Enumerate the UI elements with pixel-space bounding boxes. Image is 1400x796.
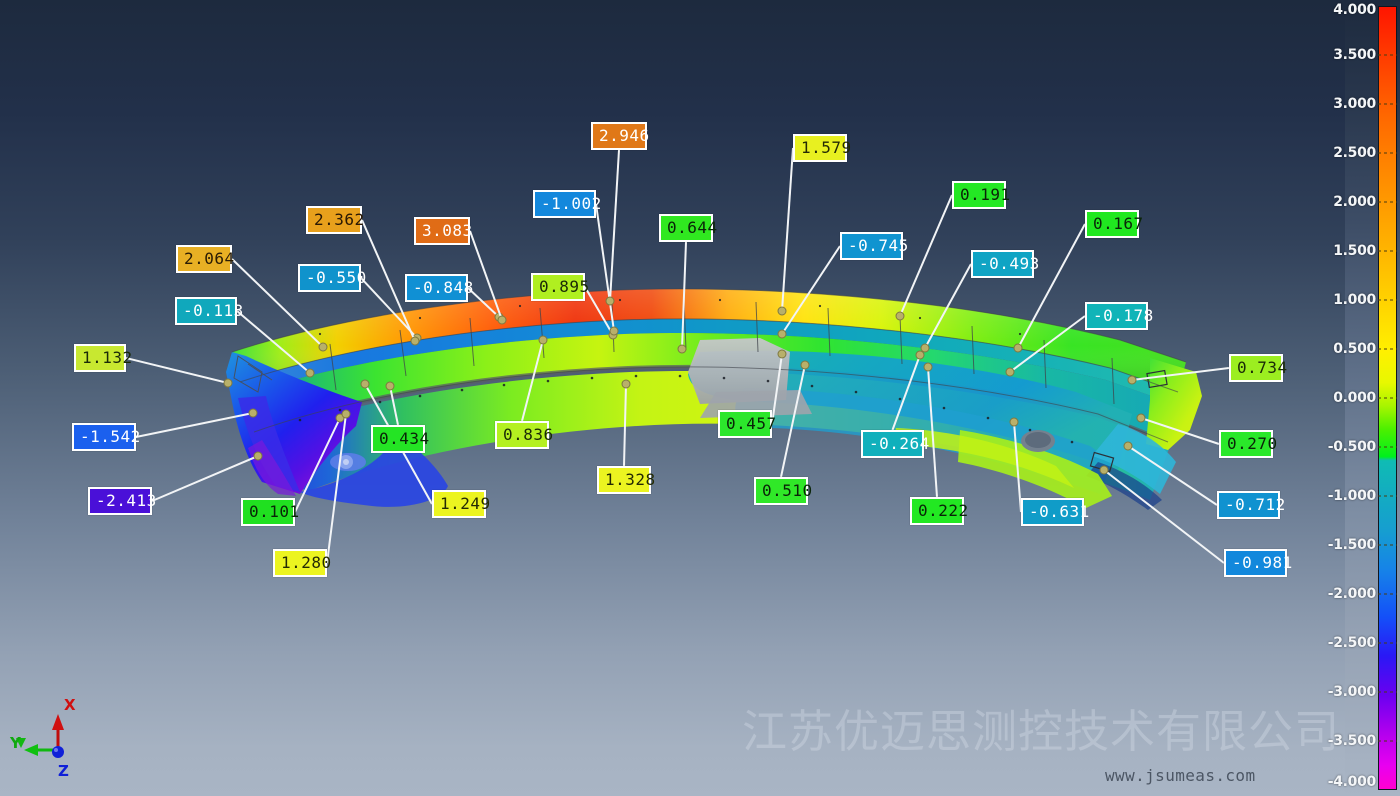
deviation-callout-label[interactable]: 1.249 bbox=[432, 490, 486, 518]
colorbar-tick-mark bbox=[1378, 153, 1397, 154]
colorbar-tick-label: 1.000 bbox=[1333, 292, 1376, 308]
website-watermark: www.jsumeas.com bbox=[1105, 766, 1256, 785]
colorbar-tick-label: 3.000 bbox=[1333, 96, 1376, 112]
colorbar-tick-label: 3.500 bbox=[1333, 47, 1376, 63]
deviation-callout-label[interactable]: -0.178 bbox=[1085, 302, 1148, 330]
deviation-callout-label[interactable]: 0.457 bbox=[718, 410, 772, 438]
colorbar-tick-mark bbox=[1378, 55, 1397, 56]
deviation-callout-label[interactable]: 0.101 bbox=[241, 498, 295, 526]
3d-viewport[interactable]: 1.1322.064-0.113-1.542-2.4130.1011.280-0… bbox=[0, 0, 1345, 796]
deviation-callout-label[interactable]: 1.579 bbox=[793, 134, 847, 162]
colorbar-tick-label: -2.000 bbox=[1328, 586, 1376, 602]
deviation-callout-label[interactable]: 0.734 bbox=[1229, 354, 1283, 382]
colorbar-tick-mark bbox=[1378, 251, 1397, 252]
colorbar-tick-label: -0.500 bbox=[1328, 439, 1376, 455]
colorbar-tick-label: 4.000 bbox=[1333, 2, 1376, 18]
deviation-callout-label[interactable]: -0.848 bbox=[405, 274, 468, 302]
colorbar-tick-label: -3.000 bbox=[1328, 684, 1376, 700]
deviation-callout-label[interactable]: -0.745 bbox=[840, 232, 903, 260]
deviation-callout-label[interactable]: -0.981 bbox=[1224, 549, 1287, 577]
deviation-callout-label[interactable]: 0.510 bbox=[754, 477, 808, 505]
deviation-callout-label[interactable]: 0.222 bbox=[910, 497, 964, 525]
colorbar-tick-mark bbox=[1378, 202, 1397, 203]
deviation-callout-label[interactable]: -0.712 bbox=[1217, 491, 1280, 519]
axis-z-label: Z bbox=[58, 762, 69, 780]
deviation-callout-label[interactable]: 0.434 bbox=[371, 425, 425, 453]
colorbar-tick-mark bbox=[1378, 104, 1397, 105]
colorbar-tick-mark bbox=[1378, 741, 1397, 742]
colorbar-tick-label: -2.500 bbox=[1328, 635, 1376, 651]
deviation-callout-label[interactable]: -1.002 bbox=[533, 190, 596, 218]
deviation-callout-label[interactable]: -2.413 bbox=[88, 487, 152, 515]
colorbar-tick-label: 2.000 bbox=[1333, 194, 1376, 210]
colorbar-tick-label: -3.500 bbox=[1328, 733, 1376, 749]
deviation-callout-label[interactable]: 0.895 bbox=[531, 273, 585, 301]
axis-y-label: Y bbox=[10, 734, 21, 752]
application-window: 1.1322.064-0.113-1.542-2.4130.1011.280-0… bbox=[0, 0, 1400, 796]
colorbar-tick-mark bbox=[1378, 643, 1397, 644]
colorbar-tick-label: -1.000 bbox=[1328, 488, 1376, 504]
part-geometry bbox=[0, 0, 1345, 796]
colorbar-tick-label: -1.500 bbox=[1328, 537, 1376, 553]
deviation-callout-label[interactable]: -0.493 bbox=[971, 250, 1034, 278]
deviation-callout-label[interactable]: -0.264 bbox=[861, 430, 924, 458]
colorbar-tick-mark bbox=[1378, 545, 1397, 546]
deviation-callout-label[interactable]: 0.191 bbox=[952, 181, 1006, 209]
deviation-callout-label[interactable]: 0.270 bbox=[1219, 430, 1273, 458]
colorbar-tick-mark bbox=[1378, 300, 1397, 301]
colorbar-tick-mark bbox=[1378, 398, 1397, 399]
colorbar-tick-label: 2.500 bbox=[1333, 145, 1376, 161]
deviation-callout-label[interactable]: -0.550 bbox=[298, 264, 361, 292]
deviation-callout-label[interactable]: 0.836 bbox=[495, 421, 549, 449]
deviation-callout-label[interactable]: -1.542 bbox=[72, 423, 136, 451]
colorbar-tick-mark bbox=[1378, 349, 1397, 350]
colorbar-tick-label: 0.000 bbox=[1333, 390, 1376, 406]
deviation-callout-label[interactable]: -0.113 bbox=[175, 297, 237, 325]
colorbar-tick-mark bbox=[1378, 496, 1397, 497]
axis-triad[interactable]: X Y Z bbox=[10, 690, 120, 790]
deviation-callout-label[interactable]: 2.064 bbox=[176, 245, 232, 273]
colorbar-tick-label: 0.500 bbox=[1333, 341, 1376, 357]
deviation-callout-label[interactable]: 1.280 bbox=[273, 549, 327, 577]
colorbar-panel[interactable]: 4.0003.5003.0002.5002.0001.5001.0000.500… bbox=[1345, 0, 1400, 796]
company-watermark: 江苏优迈思测控技术有限公司 bbox=[742, 706, 1342, 758]
deviation-callout-label[interactable]: 0.167 bbox=[1085, 210, 1139, 238]
deviation-callout-label[interactable]: 0.644 bbox=[659, 214, 713, 242]
colorbar-tick-label: -4.000 bbox=[1328, 774, 1376, 790]
deviation-callout-label[interactable]: 3.083 bbox=[414, 217, 470, 245]
deviation-callout-label[interactable]: 2.362 bbox=[306, 206, 362, 234]
deviation-callout-label[interactable]: 1.132 bbox=[74, 344, 126, 372]
colorbar-tick-mark bbox=[1378, 447, 1397, 448]
colorbar-tick-mark bbox=[1378, 692, 1397, 693]
colorbar-tick-label: 1.500 bbox=[1333, 243, 1376, 259]
deviation-callout-label[interactable]: 2.946 bbox=[591, 122, 647, 150]
axis-x-label: X bbox=[64, 696, 76, 714]
deviation-callout-label[interactable]: -0.631 bbox=[1021, 498, 1084, 526]
deviation-callout-label[interactable]: 1.328 bbox=[597, 466, 651, 494]
colorbar-tick-mark bbox=[1378, 594, 1397, 595]
